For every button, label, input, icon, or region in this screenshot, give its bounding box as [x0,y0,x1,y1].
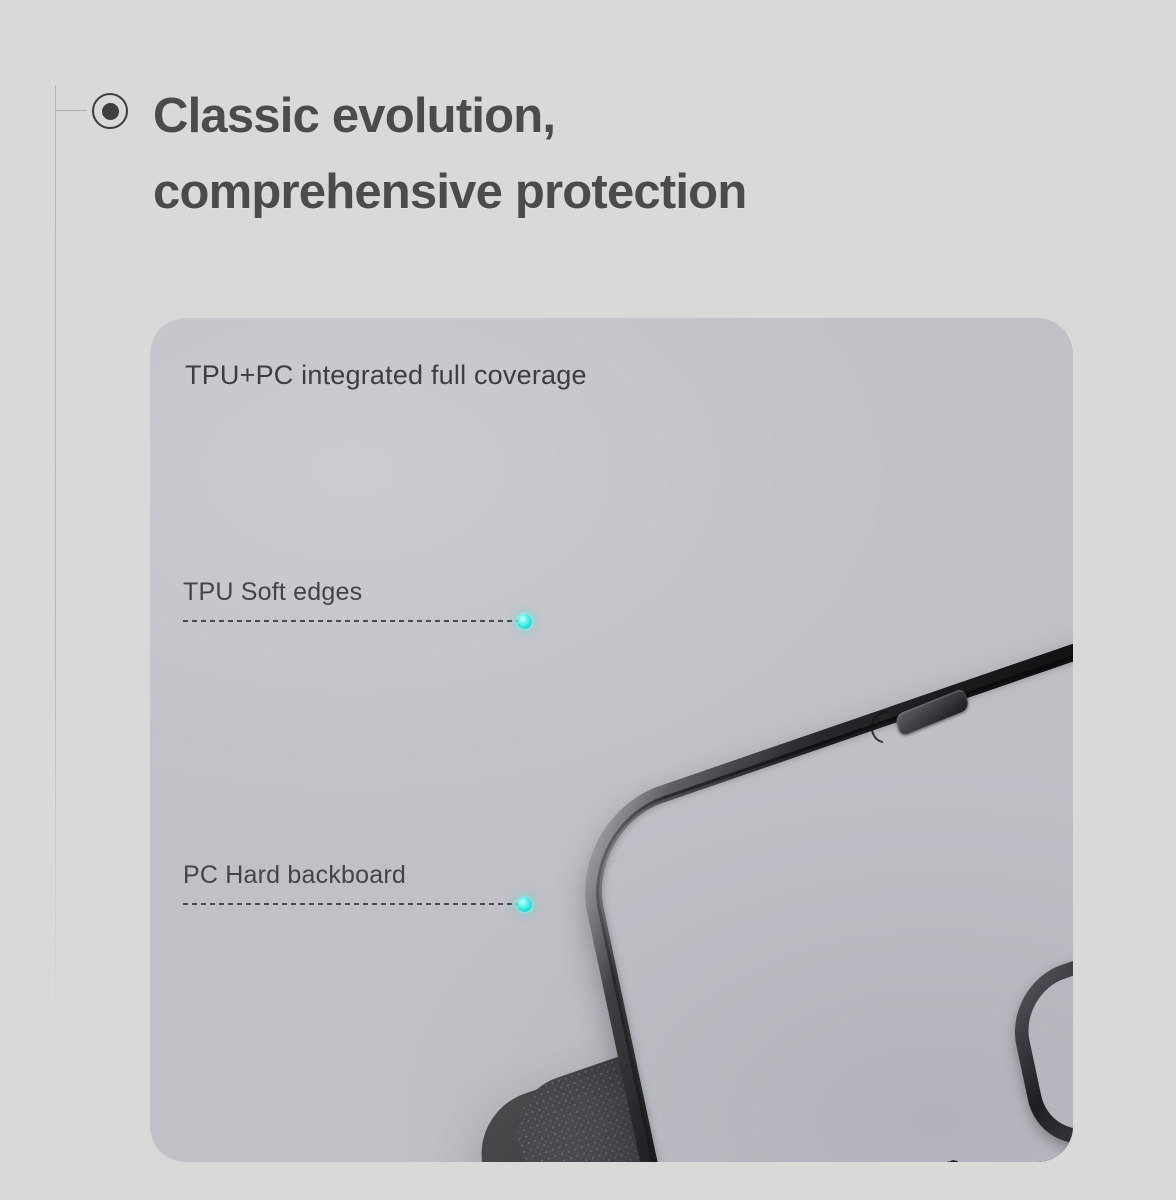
product-illustration: LEICA [150,318,1073,1162]
callout-leader-line [183,903,525,905]
page-title: Classic evolution, comprehensive protect… [153,78,1053,230]
headline-line-1: Classic evolution, [153,78,1053,154]
tpu-bumper-frame [567,570,1073,1162]
ring-bullet-icon [92,93,128,129]
callout-label: PC Hard backboard [183,861,525,890]
callout-pc-hard-backboard: PC Hard backboard [183,861,525,905]
panel-caption: TPU+PC integrated full coverage [185,360,587,391]
callout-dot-icon [517,897,532,912]
headline-line-2: comprehensive protection [153,154,1053,230]
callout-leader-line [183,620,525,622]
callout-tpu-soft-edges: TPU Soft edges [183,578,525,622]
guide-tick [55,110,87,111]
callout-dot-icon [517,614,532,629]
feature-panel: LEICA TPU+PC integrated full coverage [150,318,1073,1162]
callout-label: TPU Soft edges [183,578,525,607]
left-guide-rule [55,85,56,1033]
